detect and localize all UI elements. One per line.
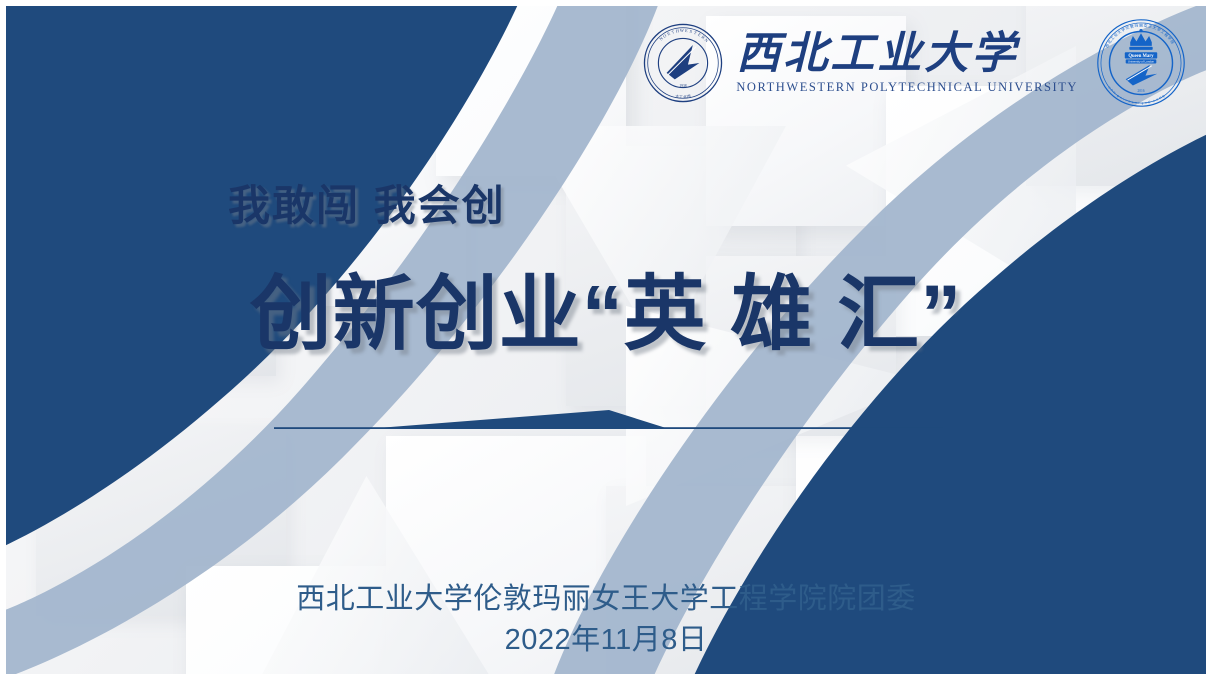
slide-headline: 创新创业“英 雄 汇” [250, 272, 963, 359]
svg-text:工: 工 [679, 95, 683, 99]
bg-panel [1006, 306, 1206, 506]
footer-organization: 西北工业大学伦敦玛丽女王大学工程学院院团委 [156, 580, 1056, 619]
svg-text:E: E [685, 28, 689, 33]
svg-text:T: T [671, 29, 675, 35]
svg-text:r: r [1125, 98, 1127, 102]
svg-text:丽: 丽 [1139, 23, 1143, 28]
svg-text:1938: 1938 [680, 84, 687, 88]
npu-name-en: NORTHWESTERN POLYTECHNICAL UNIVERSITY [736, 80, 1078, 95]
npu-logo: N O R T H W E S T E R N 西 北 工 大 [642, 22, 1078, 104]
svg-text:西: 西 [687, 93, 692, 99]
slide-footer: 西北工业大学伦敦玛丽女王大学工程学院院团委 2022年11月8日 [156, 580, 1056, 660]
npu-name-cn: 西北工业大学 [736, 31, 1078, 77]
title-divider [274, 398, 943, 430]
svg-text:R: R [667, 31, 672, 37]
slide-kicker: 我敢闯 我会创 [228, 172, 506, 233]
svg-text:2016: 2016 [1137, 89, 1144, 93]
svg-text:Queen Mary: Queen Mary [1128, 54, 1154, 59]
svg-text:H: H [676, 28, 680, 33]
svg-text:University of London: University of London [1128, 60, 1155, 64]
presentation-slide: N O R T H W E S T E R N 西 北 工 大 [0, 0, 1212, 680]
svg-text:E: E [1148, 100, 1151, 104]
divider-rule-icon [274, 398, 943, 430]
footer-date: 2022年11月8日 [156, 621, 1056, 660]
svg-text:N: N [704, 37, 710, 43]
svg-text:Q: Q [1161, 93, 1166, 98]
svg-text:e: e [1128, 99, 1131, 103]
svg-text:北: 北 [683, 94, 687, 99]
npu-seal-icon: N O R T H W E S T E R N 西 北 工 大 [642, 22, 724, 104]
npu-wordmark: 西北工业大学 NORTHWESTERN POLYTECHNICAL UNIVER… [736, 31, 1078, 95]
svg-text:W: W [680, 28, 684, 33]
logo-bar: N O R T H W E S T E R N 西 北 工 大 [642, 18, 1186, 108]
bg-panel [66, 126, 276, 376]
queen-mary-npu-seal-icon: Queen Mary University of London 2016 西 北… [1096, 18, 1186, 108]
